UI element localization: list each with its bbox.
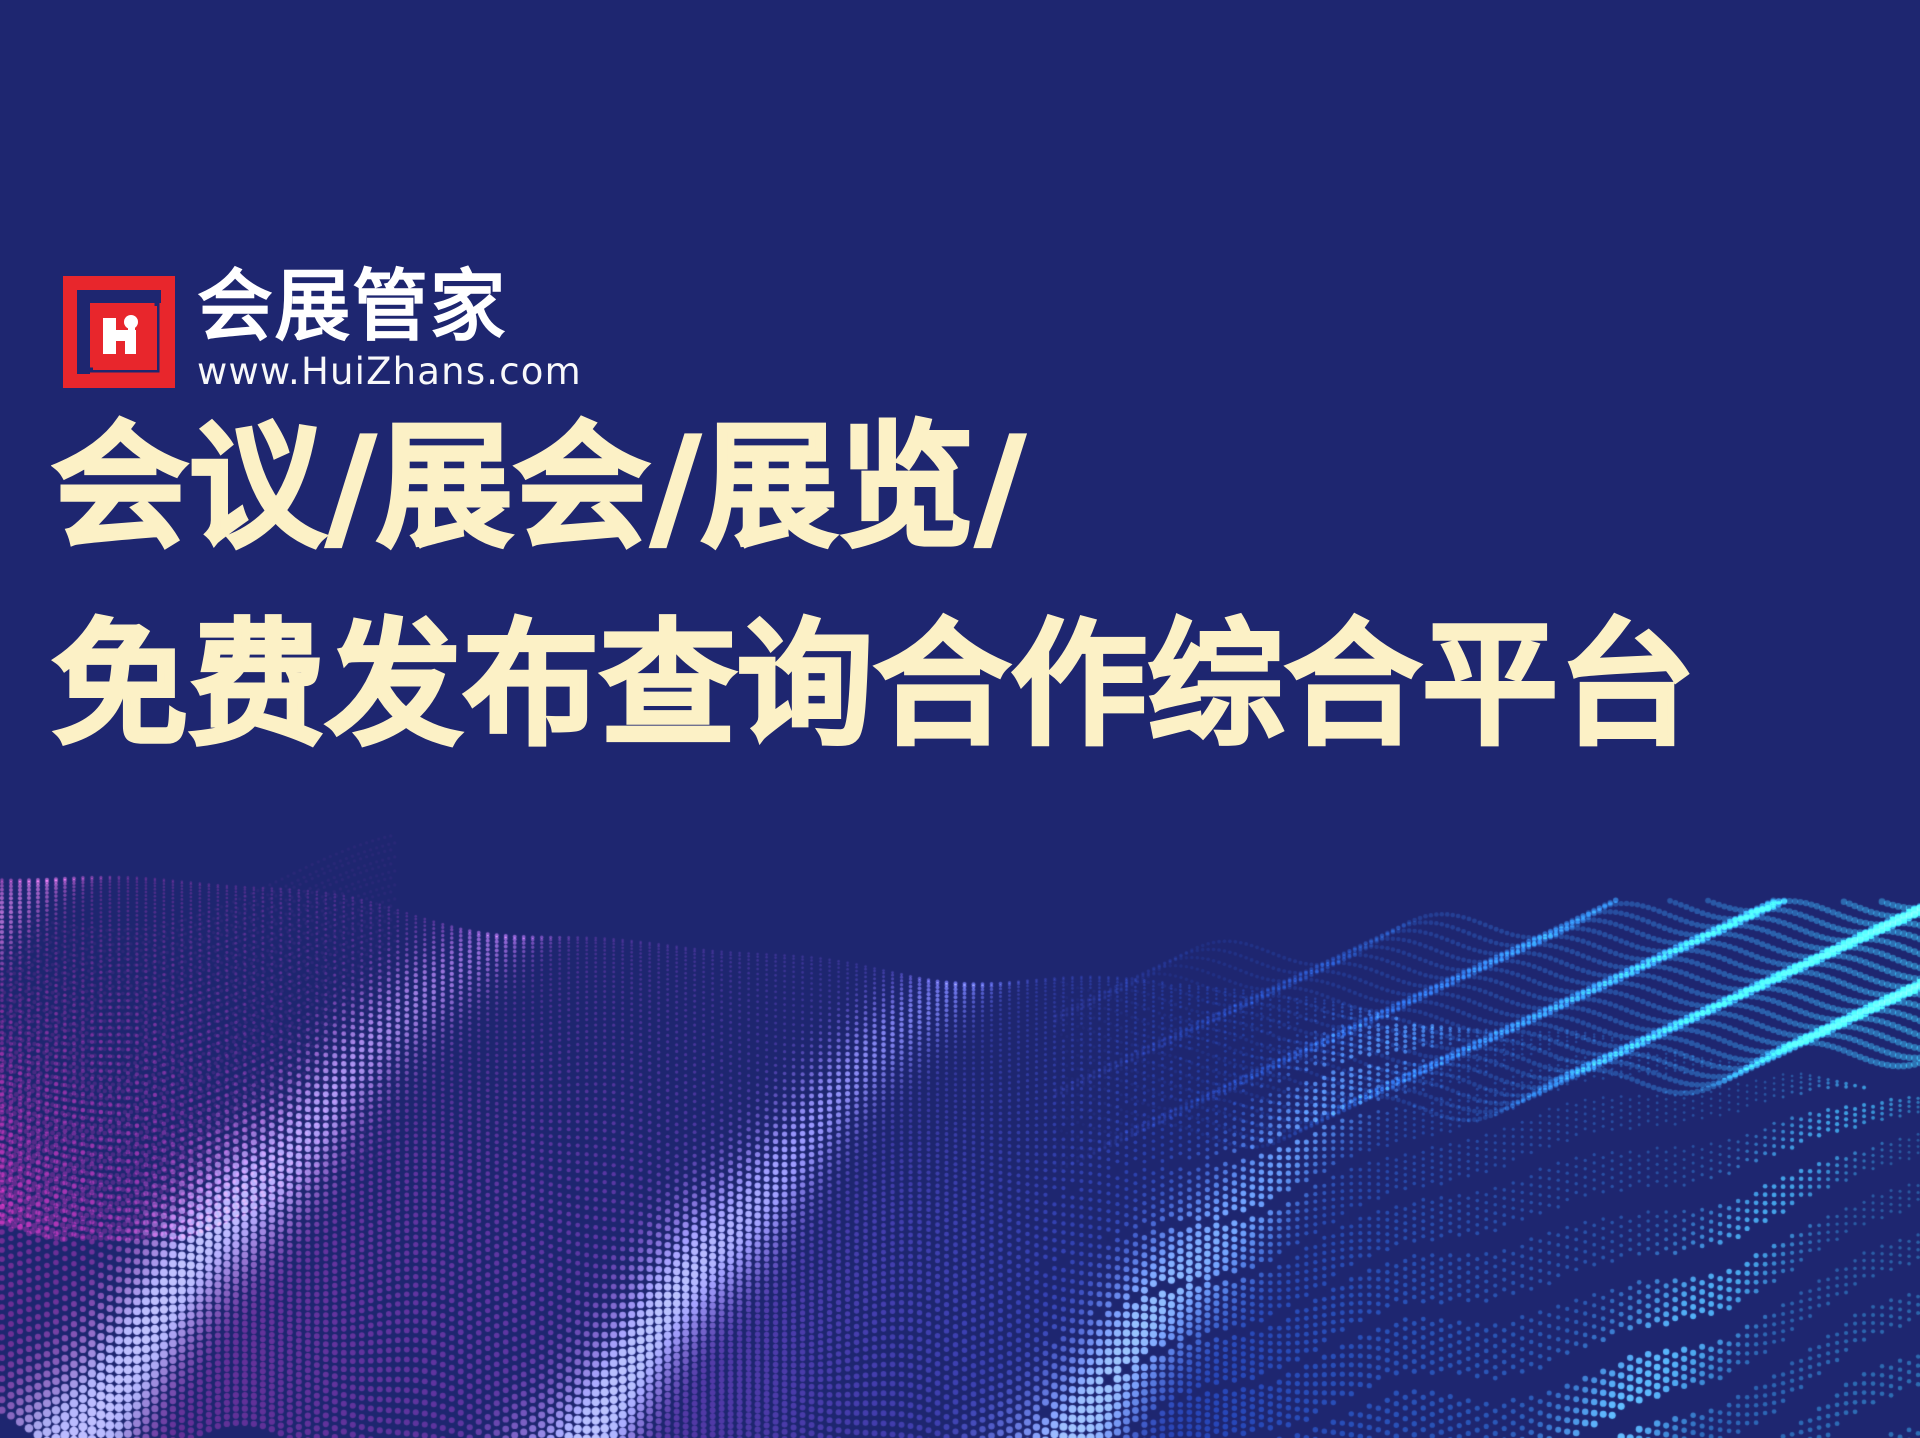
logo-lockup[interactable]: 会展管家 www.HuiZhans.com [63,272,582,390]
logo-url[interactable]: www.HuiZhans.com [197,353,582,390]
headline-line-2: 免费发布查询合作综合平台 [52,618,1872,754]
poster-root: 会展管家 www.HuiZhans.com 会议/展会/展览/ 免费发布查询合作… [0,0,1920,1438]
logo-text-block: 会展管家 www.HuiZhans.com [197,272,582,390]
headline-line-1: 会议/展会/展览/ [52,420,1872,556]
logo-wordmark: 会展管家 [197,272,570,344]
headline: 会议/展会/展览/ 免费发布查询合作综合平台 [52,420,1872,754]
huizhans-hi-mark-icon [63,276,175,388]
